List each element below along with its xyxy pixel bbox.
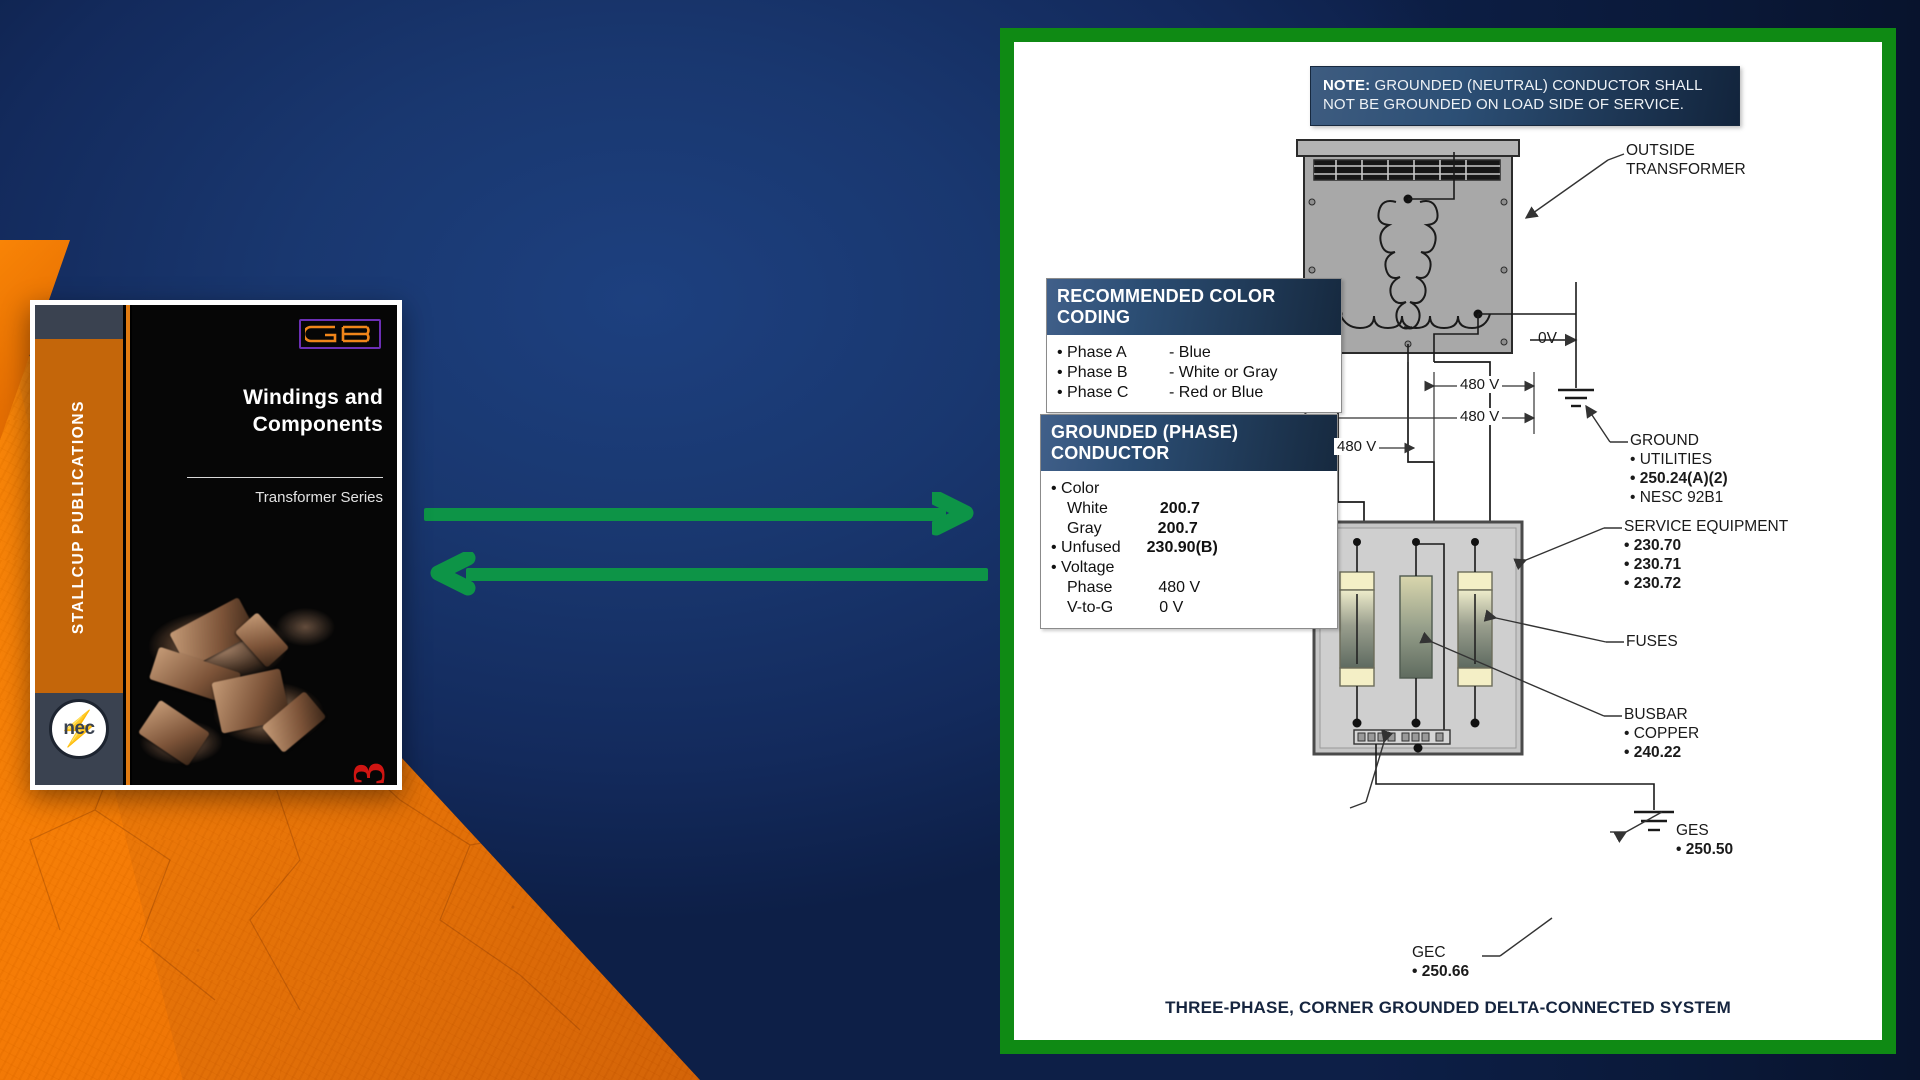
- arrow-right-head: [932, 492, 992, 536]
- cover-title-line2: Components: [183, 412, 383, 439]
- nec-badge-label: nec: [63, 718, 94, 740]
- voltage-top: 480 V: [1457, 376, 1502, 393]
- table-row: • Color: [1051, 479, 1327, 499]
- cover-photo-transformer-windings: [132, 555, 356, 785]
- cover-subtitle: Transformer Series: [183, 489, 383, 506]
- grounded-conductor-body: • Color White 200.7 Gray 200.7 • Unfused…: [1041, 471, 1337, 628]
- callout-zero-volts: 0V: [1538, 330, 1557, 349]
- nec-badge: ⚡ nec: [49, 699, 109, 759]
- arrow-right: [424, 500, 984, 528]
- table-row: V-to-G 0 V: [1051, 598, 1327, 618]
- color-coding-title: RECOMMENDED COLOR CODING: [1047, 279, 1341, 335]
- callout-gec: GEC • 250.66: [1412, 944, 1469, 982]
- publisher-name-text: STALLCUP PUBLICATIONS: [70, 400, 88, 634]
- book-front-face: Windings and Components Transformer Seri…: [132, 305, 397, 785]
- arrow-left: [424, 560, 984, 588]
- publisher-name: STALLCUP PUBLICATIONS: [35, 345, 123, 689]
- voltage-middle: 480 V: [1457, 408, 1502, 425]
- callout-ges: GES • 250.50: [1676, 822, 1733, 860]
- table-row: • Phase A - Blue: [1057, 343, 1331, 363]
- table-row: • Phase B - White or Gray: [1057, 363, 1331, 383]
- color-coding-body: • Phase A - Blue • Phase B - White or Gr…: [1047, 335, 1341, 412]
- callout-busbar: BUSBAR • COPPER • 240.22: [1624, 706, 1699, 763]
- table-row: White 200.7: [1051, 499, 1327, 519]
- cover-title-line1: Windings and: [183, 385, 383, 412]
- table-row: • Unfused 230.90(B): [1051, 538, 1327, 558]
- callout-service-equipment: SERVICE EQUIPMENT • 230.70 • 230.71 • 23…: [1624, 518, 1788, 594]
- table-row: • Phase C - Red or Blue: [1057, 383, 1331, 403]
- color-coding-box: RECOMMENDED COLOR CODING • Phase A - Blu…: [1046, 278, 1342, 413]
- note-label: NOTE:: [1323, 77, 1370, 94]
- callout-fuses: FUSES: [1626, 633, 1678, 652]
- book-cover[interactable]: STALLCUP PUBLICATIONS ⚡ nec: [30, 300, 402, 790]
- callout-ground: GROUND • UTILITIES • 250.24(A)(2) • NESC…: [1630, 432, 1728, 508]
- diagram-panel: NOTE: GROUNDED (NEUTRAL) CONDUCTOR SHALL…: [1000, 28, 1896, 1054]
- gb-logo-icon: [299, 319, 381, 349]
- book-spine-divider: [123, 305, 132, 785]
- callout-outside-transformer: OUTSIDE TRANSFORMER: [1626, 142, 1746, 180]
- table-row: • Voltage: [1051, 558, 1327, 578]
- book-spine: STALLCUP PUBLICATIONS ⚡ nec: [35, 305, 123, 785]
- arrow-left-head: [420, 552, 480, 596]
- cover-year: 2023: [342, 761, 395, 785]
- grounded-conductor-title: GROUNDED (PHASE) CONDUCTOR: [1041, 415, 1337, 471]
- grounded-conductor-box: GROUNDED (PHASE) CONDUCTOR • Color White…: [1040, 414, 1338, 629]
- cover-title: Windings and Components: [183, 385, 383, 439]
- table-row: Phase 480 V: [1051, 578, 1327, 598]
- diagram-canvas: NOTE: GROUNDED (NEUTRAL) CONDUCTOR SHALL…: [1014, 42, 1882, 1040]
- table-row: Gray 200.7: [1051, 519, 1327, 539]
- note-box: NOTE: GROUNDED (NEUTRAL) CONDUCTOR SHALL…: [1310, 66, 1740, 126]
- cover-divider-rule: [187, 477, 383, 478]
- voltage-bottom: 480 V: [1334, 438, 1379, 455]
- diagram-caption: THREE-PHASE, CORNER GROUNDED DELTA-CONNE…: [1014, 998, 1882, 1018]
- note-text: GROUNDED (NEUTRAL) CONDUCTOR SHALL NOT B…: [1323, 77, 1702, 113]
